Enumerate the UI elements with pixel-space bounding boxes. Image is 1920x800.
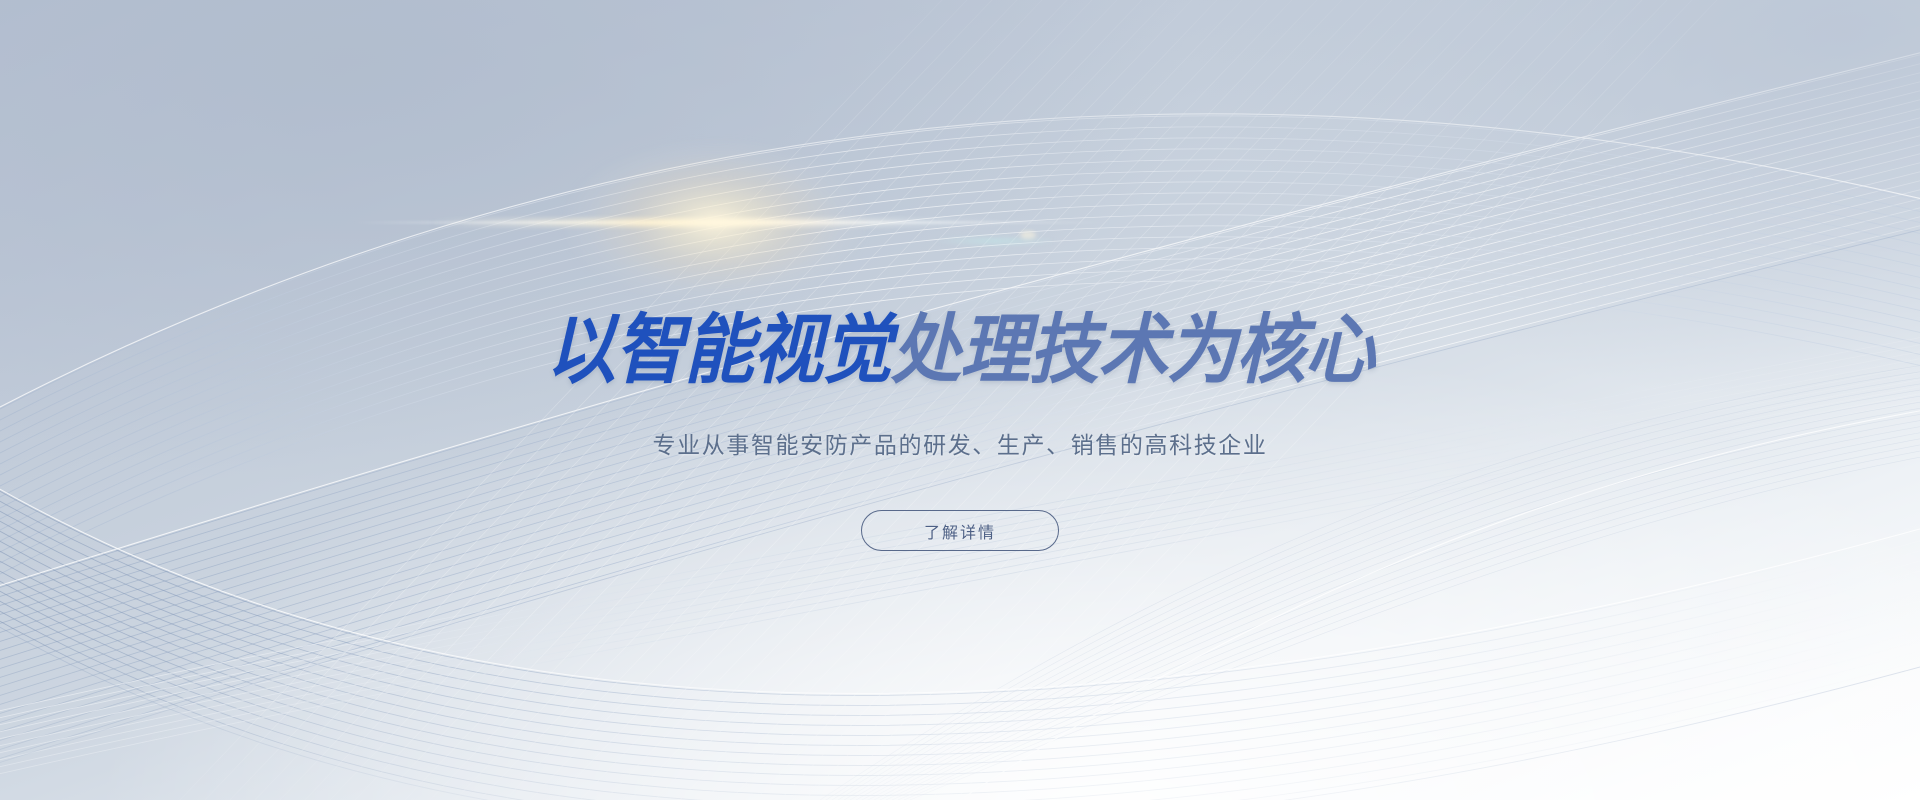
hero-cta-container: 了解详情 [0,510,1920,551]
learn-more-button[interactable]: 了解详情 [861,510,1059,551]
headline-segment-secondary: 处理技术为核心 [891,308,1374,393]
hero-content: 以智能视觉处理技术为核心 专业从事智能安防产品的研发、生产、销售的高科技企业 了… [0,0,1920,800]
hero-subtitle: 专业从事智能安防产品的研发、生产、销售的高科技企业 [0,429,1920,461]
headline-segment-primary: 以智能视觉 [546,308,891,393]
hero-banner: 以智能视觉处理技术为核心 专业从事智能安防产品的研发、生产、销售的高科技企业 了… [0,0,1920,800]
hero-headline: 以智能视觉处理技术为核心 [77,313,1843,389]
